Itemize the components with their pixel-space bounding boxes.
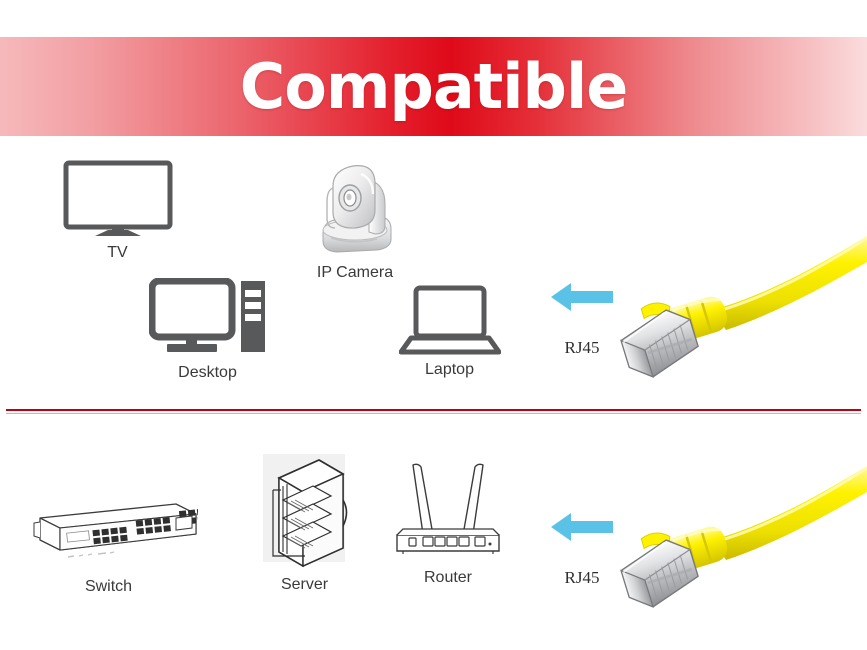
- device-item-desktop: Desktop: [145, 278, 270, 382]
- compatibility-diagram-page: Compatible TV: [0, 0, 867, 650]
- arrow-left-icon: [549, 278, 615, 318]
- device-item-switch: Switch: [26, 478, 191, 596]
- switch-icon: [26, 478, 198, 564]
- laptop-icon: [399, 285, 501, 355]
- device-label-router: Router: [388, 569, 508, 587]
- arrow-left-icon: [549, 508, 615, 548]
- device-label-desktop: Desktop: [145, 364, 270, 382]
- rj45-cable-icon: [618, 462, 867, 612]
- router-icon: [389, 455, 507, 567]
- rj45-cable-bottom: [618, 462, 867, 617]
- page-title: Compatible: [240, 56, 628, 118]
- device-label-tv: TV: [55, 244, 180, 262]
- section-divider-soft: [6, 413, 861, 414]
- header-banner: Compatible: [0, 37, 867, 136]
- device-label-server: Server: [252, 576, 357, 594]
- device-label-laptop: Laptop: [392, 361, 507, 379]
- device-item-router: Router: [388, 455, 508, 587]
- server-icon: [257, 452, 353, 568]
- desktop-icon: [149, 278, 267, 358]
- device-label-switch: Switch: [26, 578, 191, 596]
- device-label-ip-camera: IP Camera: [285, 264, 425, 282]
- rj45-cable-top: [618, 232, 867, 387]
- tv-icon: [62, 160, 174, 238]
- device-item-tv: TV: [55, 160, 180, 262]
- rj45-cable-icon: [618, 232, 867, 382]
- ip-camera-icon: [309, 158, 401, 258]
- device-item-server: Server: [252, 452, 357, 594]
- device-item-laptop: Laptop: [392, 285, 507, 379]
- section-divider: [6, 409, 861, 411]
- device-item-ip-camera: IP Camera: [285, 158, 425, 282]
